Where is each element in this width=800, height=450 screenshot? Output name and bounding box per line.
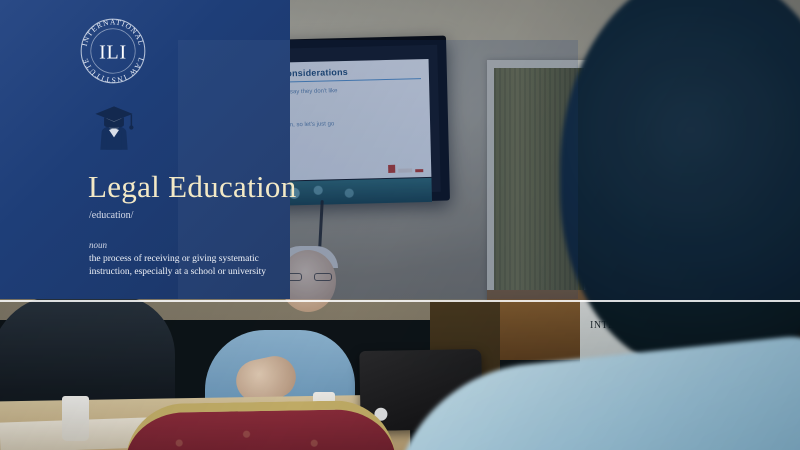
part-of-speech-label: noun <box>89 240 107 250</box>
definition-text: the process of receiving or giving syste… <box>89 253 289 278</box>
horizontal-divider-line <box>0 300 800 302</box>
pronunciation-text: /education/ <box>89 210 133 221</box>
seal-center-text: ILI <box>99 41 127 63</box>
ili-seal-logo: INTERNATIONAL LAW INSTITUTE ILI <box>76 14 150 88</box>
page-title: Legal Education <box>88 170 297 204</box>
graduation-cap-avatar-icon <box>83 92 145 158</box>
slide-canvas: ing Considerations e parties say they do… <box>0 0 800 450</box>
